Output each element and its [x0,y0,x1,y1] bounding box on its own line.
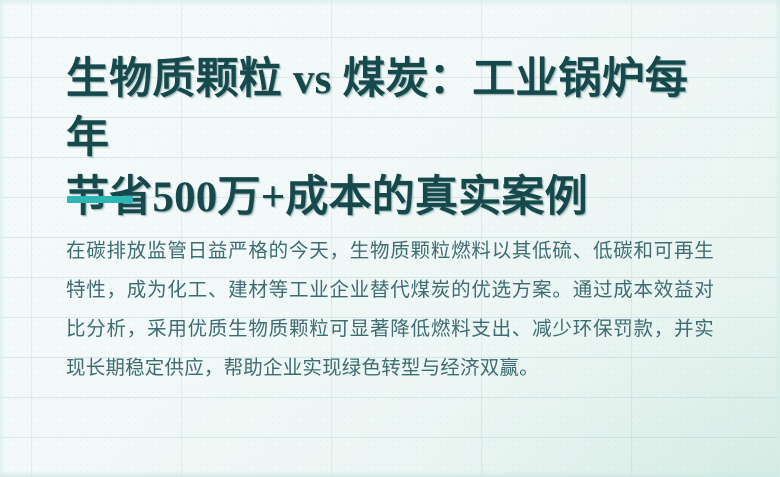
summary-paragraph: 在碳排放监管日益严格的今天，生物质颗粒燃料以其低硫、低碳和可再生特性，成为化工、… [66,232,714,388]
accent-divider [67,196,133,203]
poster-content: 生物质颗粒 vs 煤炭：工业锅炉每年 节省500万+成本的真实案例 在碳排放监管… [66,0,726,477]
page-title: 生物质颗粒 vs 煤炭：工业锅炉每年 节省500万+成本的真实案例 [66,50,726,227]
edge-highlight-left [0,0,5,477]
edge-highlight-right [775,0,780,477]
article-cover-poster: 生物质颗粒 vs 煤炭：工业锅炉每年 节省500万+成本的真实案例 在碳排放监管… [0,0,780,477]
